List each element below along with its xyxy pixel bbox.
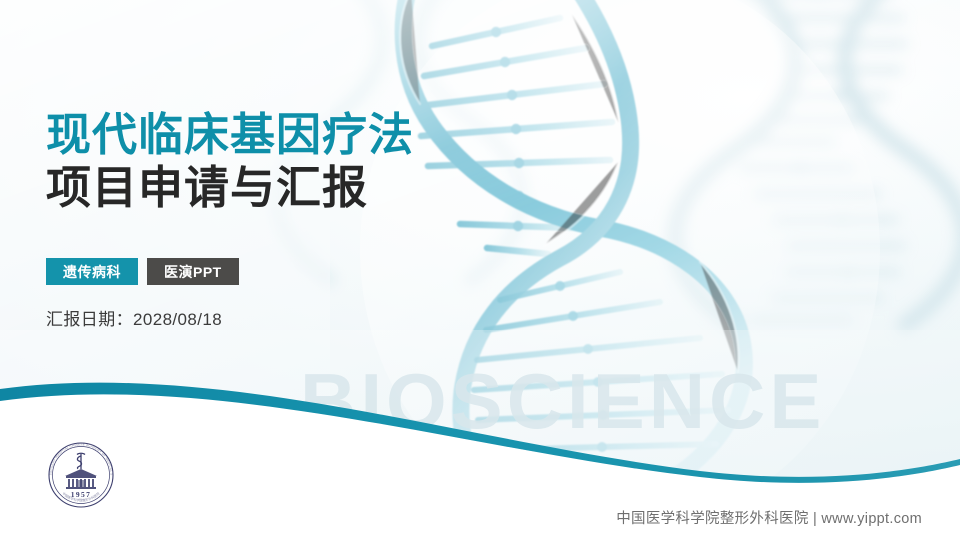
tag-group: 遗传病科 医演PPT [46, 258, 239, 285]
title-line-primary: 现代临床基因疗法 [46, 108, 566, 161]
building-emblem [65, 469, 97, 489]
footer-separator: | [813, 511, 817, 527]
hospital-seal-logo: 1957 PLASTIC SURGERY HOSPITAL CHINESE AC… [47, 441, 115, 509]
footer-organization: 中国医学科学院整形外科医院 [616, 511, 808, 527]
footer-website[interactable]: www.yippt.com [821, 511, 922, 527]
title-line-secondary: 项目申请与汇报 [46, 161, 566, 214]
report-date: 汇报日期：2028/08/18 [46, 305, 222, 330]
tag-template[interactable]: 医演PPT [147, 258, 239, 285]
footer: 中国医学科学院整形外科医院 | www.yippt.com [616, 507, 922, 528]
asclepius-emblem [77, 453, 85, 469]
presentation-slide: BIOSCIENCE 现代临床基因疗法 项目申请与汇报 遗传病科 医演PPT 汇… [0, 0, 960, 540]
title-block: 现代临床基因疗法 项目申请与汇报 [46, 108, 566, 214]
tag-department[interactable]: 遗传病科 [46, 258, 138, 285]
